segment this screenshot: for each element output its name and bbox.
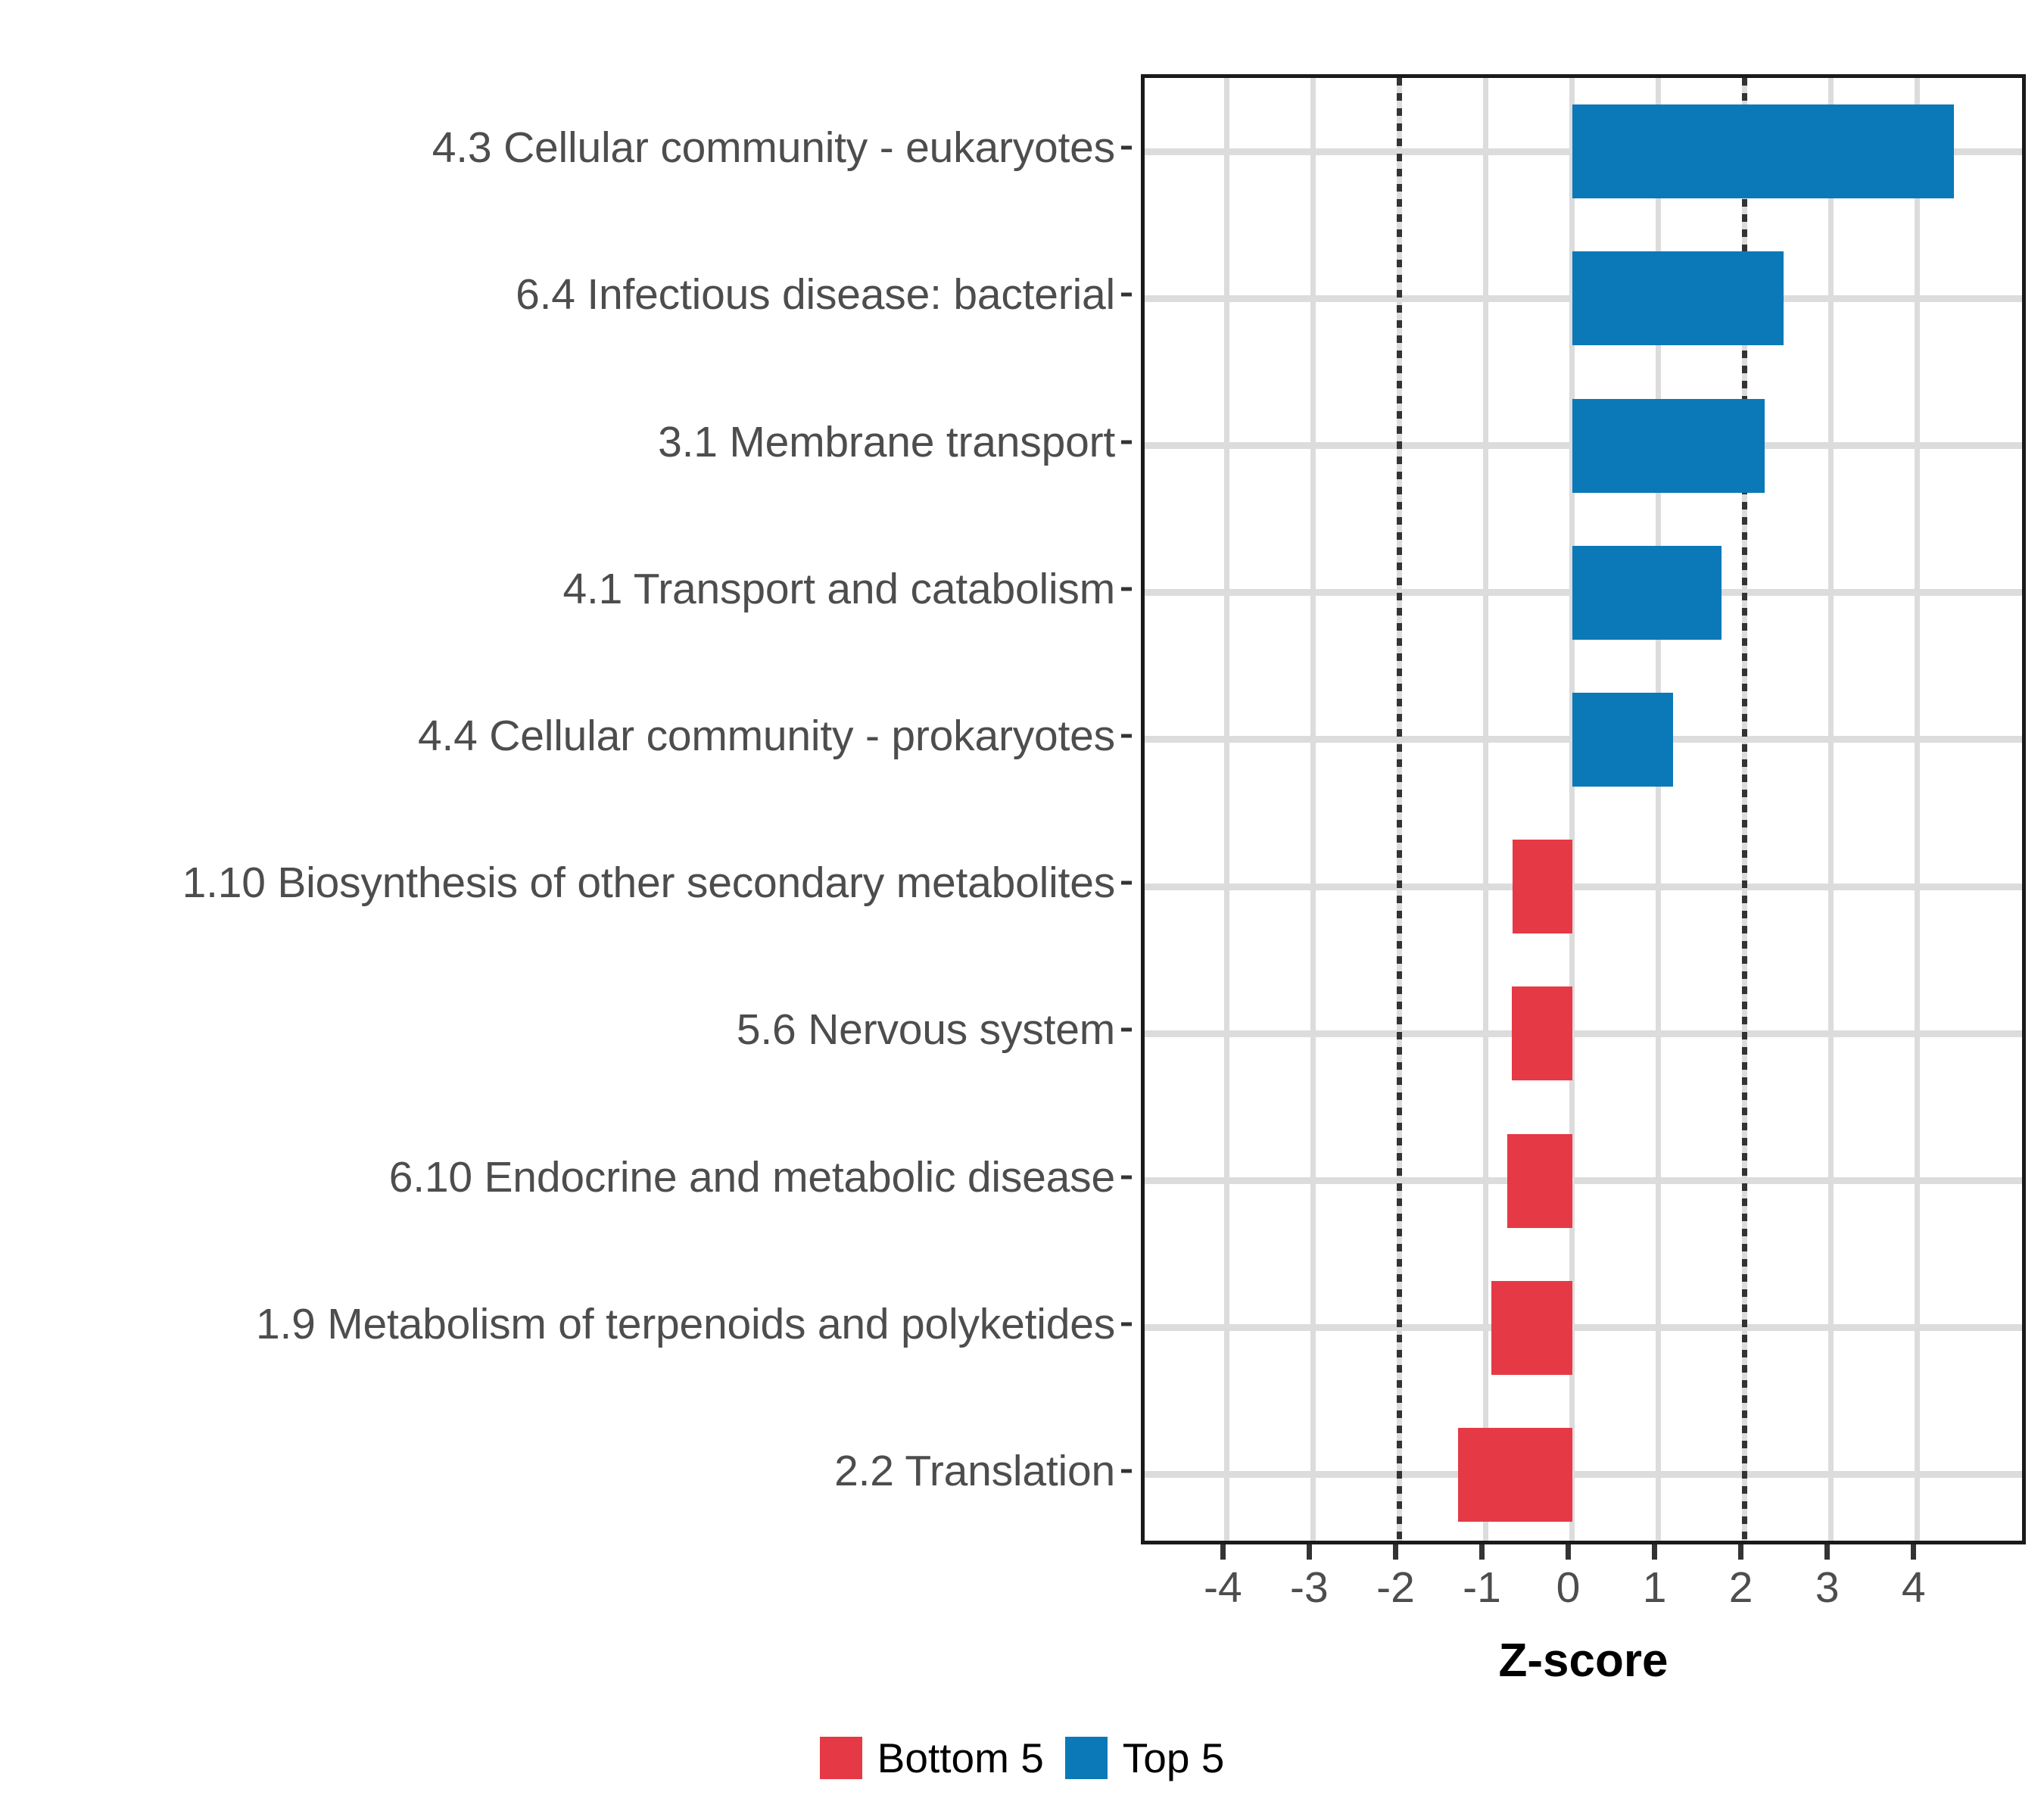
x-tick-label: -3 bbox=[1290, 1563, 1329, 1613]
x-tick-mark bbox=[1220, 1544, 1226, 1560]
y-tick-label: 1.9 Metabolism of terpenoids and polyket… bbox=[256, 1299, 1115, 1349]
y-tick-label: 3.1 Membrane transport bbox=[658, 417, 1115, 467]
x-tick-mark bbox=[1393, 1544, 1398, 1560]
bar[interactable] bbox=[1572, 546, 1722, 640]
y-tick-mark bbox=[1121, 146, 1132, 150]
x-tick-mark bbox=[1738, 1544, 1743, 1560]
y-tick-label: 4.1 Transport and catabolism bbox=[563, 564, 1115, 614]
y-tick-mark bbox=[1121, 293, 1132, 297]
horizontal-gridline bbox=[1145, 1030, 2022, 1037]
y-tick-mark bbox=[1121, 881, 1132, 885]
bar[interactable] bbox=[1513, 840, 1572, 933]
bar[interactable] bbox=[1572, 251, 1784, 345]
x-tick-mark bbox=[1911, 1544, 1916, 1560]
bar[interactable] bbox=[1512, 986, 1572, 1080]
x-tick-label: 1 bbox=[1643, 1563, 1667, 1613]
x-tick-label: -4 bbox=[1204, 1563, 1242, 1613]
x-tick-mark bbox=[1566, 1544, 1571, 1560]
bar[interactable] bbox=[1507, 1134, 1572, 1228]
y-tick-mark bbox=[1121, 1028, 1132, 1032]
y-tick-mark bbox=[1121, 1469, 1132, 1473]
x-tick-label: 3 bbox=[1815, 1563, 1840, 1613]
y-tick-label: 4.4 Cellular community - prokaryotes bbox=[418, 711, 1115, 761]
legend-item[interactable]: Top 5 bbox=[1065, 1734, 1225, 1782]
horizontal-gridline bbox=[1145, 1471, 2022, 1478]
x-tick-label: -1 bbox=[1463, 1563, 1501, 1613]
bar[interactable] bbox=[1458, 1428, 1572, 1522]
y-tick-mark bbox=[1121, 440, 1132, 444]
horizontal-gridline bbox=[1145, 1177, 2022, 1184]
y-tick-label: 6.4 Infectious disease: bacterial bbox=[516, 270, 1115, 319]
y-tick-label: 4.3 Cellular community - eukaryotes bbox=[432, 123, 1115, 173]
horizontal-gridline bbox=[1145, 1324, 2022, 1331]
y-tick-mark bbox=[1121, 1322, 1132, 1326]
x-tick-label: 0 bbox=[1556, 1563, 1581, 1613]
z-score-bar-chart: 4.3 Cellular community - eukaryotes6.4 I… bbox=[0, 0, 2044, 1817]
legend-label: Top 5 bbox=[1123, 1734, 1225, 1782]
legend-swatch-icon bbox=[1065, 1737, 1108, 1779]
x-tick-mark bbox=[1479, 1544, 1485, 1560]
chart-legend: Bottom 5Top 5 bbox=[0, 1734, 2044, 1782]
x-axis: -4-3-2-101234 bbox=[1141, 1544, 2026, 1635]
bar[interactable] bbox=[1572, 399, 1765, 493]
y-tick-mark bbox=[1121, 734, 1132, 737]
reference-line bbox=[1397, 78, 1402, 1541]
x-axis-title: Z-score bbox=[1141, 1634, 2026, 1688]
x-tick-mark bbox=[1652, 1544, 1657, 1560]
y-tick-label: 2.2 Translation bbox=[834, 1446, 1115, 1496]
bar[interactable] bbox=[1491, 1281, 1572, 1375]
legend-label: Bottom 5 bbox=[877, 1734, 1044, 1782]
x-tick-label: 4 bbox=[1902, 1563, 1926, 1613]
plot-panel bbox=[1141, 74, 2026, 1544]
legend-item[interactable]: Bottom 5 bbox=[820, 1734, 1044, 1782]
y-tick-label: 5.6 Nervous system bbox=[737, 1005, 1115, 1055]
x-tick-mark bbox=[1307, 1544, 1312, 1560]
horizontal-gridline bbox=[1145, 884, 2022, 890]
y-tick-label: 6.10 Endocrine and metabolic disease bbox=[389, 1152, 1115, 1202]
y-tick-mark bbox=[1121, 587, 1132, 591]
y-tick-mark bbox=[1121, 1175, 1132, 1179]
x-tick-mark bbox=[1824, 1544, 1830, 1560]
y-axis-labels: 4.3 Cellular community - eukaryotes6.4 I… bbox=[0, 74, 1132, 1544]
x-tick-label: -2 bbox=[1376, 1563, 1415, 1613]
bar[interactable] bbox=[1572, 693, 1673, 787]
legend-swatch-icon bbox=[820, 1737, 862, 1779]
bar[interactable] bbox=[1572, 104, 1954, 198]
y-tick-label: 1.10 Biosynthesis of other secondary met… bbox=[182, 858, 1115, 908]
x-tick-label: 2 bbox=[1729, 1563, 1753, 1613]
